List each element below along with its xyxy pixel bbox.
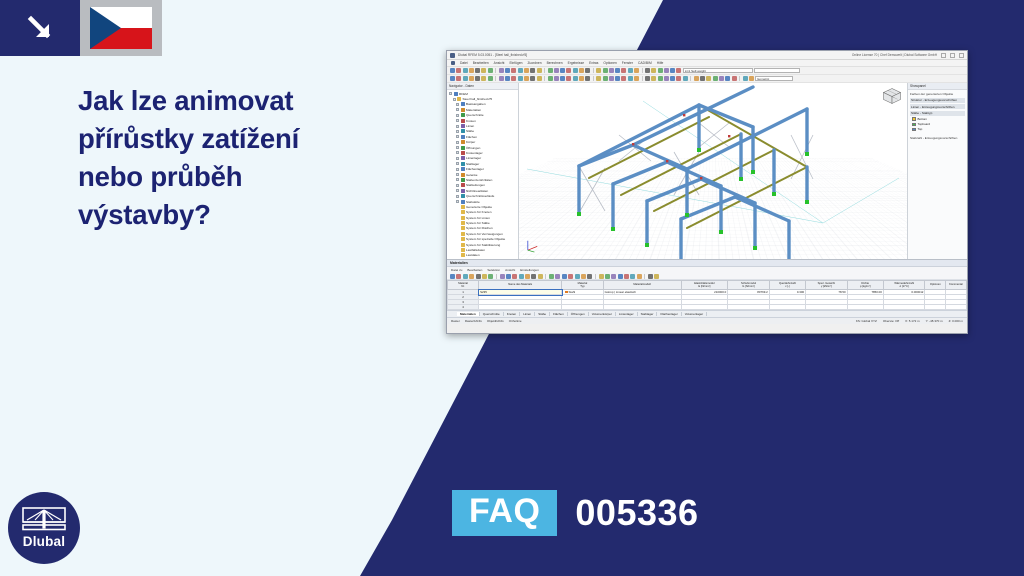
tree-toggle-icon[interactable]: - [456, 178, 459, 181]
toolbar-button-29[interactable] [651, 68, 656, 73]
tree-loadcase-lf1-self-weight[interactable]: LF1 - Self-weight [449, 258, 518, 259]
toolbar-button-2[interactable] [463, 274, 468, 279]
tree-toggle-icon[interactable]: - [456, 173, 459, 176]
toolbar-combo-0[interactable]: LC1 Self-weight [683, 68, 753, 73]
toolbar-separator [642, 68, 643, 73]
license-text: Online License 70 | Chef Demowelt | Dlub… [852, 53, 937, 57]
tree-toggle-icon[interactable]: - [456, 108, 459, 111]
headline-line-3: nebo průběh [78, 158, 408, 196]
toolbar-button-11[interactable] [524, 68, 529, 73]
tree-toggle-icon[interactable]: - [456, 130, 459, 133]
column-header-line-0: Materialmodell [605, 283, 680, 286]
toolbar-button-20[interactable] [585, 76, 590, 81]
material-type-swatch [565, 291, 567, 293]
table-menu-bearbeiten[interactable]: Bearbeiten [467, 268, 482, 272]
toolbar-button-14[interactable] [549, 274, 554, 279]
table-title: Materialien [450, 261, 468, 265]
toolbar-button-3[interactable] [469, 68, 474, 73]
toolbar-button-8[interactable] [506, 274, 511, 279]
close-button[interactable] [959, 53, 964, 58]
tree-node-label: Generierte Objekte [466, 205, 492, 209]
toolbar-button-21[interactable] [596, 68, 601, 73]
toolbar-button-23[interactable] [611, 274, 616, 279]
toolbar-button-16[interactable] [560, 76, 565, 81]
column-header-line-1: ρ [kg/m³] [849, 285, 882, 288]
tree-node-label: System für Stäbe [466, 221, 490, 225]
tree-node-icon [461, 189, 465, 193]
tree-toggle-icon[interactable]: - [456, 114, 459, 117]
menu-item-bearbeiten[interactable]: Bearbeiten [473, 61, 489, 65]
tree-node-label: Flächen [466, 135, 477, 139]
navigator-panel: Navigator - Daten -RFEM-Steel hall_finis… [447, 83, 519, 259]
show-panel-section-b: Linien - Erzeugungsvorschriften [910, 104, 965, 109]
toolbar-button-30[interactable] [658, 68, 663, 73]
status-mode-objektfang[interactable]: ObjektFANG [487, 319, 504, 323]
table-menu-selektion[interactable]: Selektion [487, 268, 500, 272]
show-panel-header: Showpanel [908, 83, 967, 90]
materials-table[interactable]: MaterialNr.Name des MaterialsMaterialTyp… [447, 280, 967, 310]
toolbar-button-29[interactable] [654, 274, 659, 279]
tree-node-label: Lastfallsdaten [466, 248, 485, 252]
toolbar-button-8[interactable] [505, 76, 510, 81]
status-mode-ortholinie[interactable]: Ortholinie [509, 319, 522, 323]
toolbar-button-2[interactable] [463, 68, 468, 73]
toolbar-button-37[interactable] [706, 76, 711, 81]
toolbar-separator [690, 76, 691, 81]
table-cell-model[interactable] [603, 305, 681, 310]
minimize-button[interactable] [941, 53, 946, 58]
tree-node-icon [461, 113, 465, 117]
tree-node-label: Linien [466, 124, 474, 128]
toolbar-button-12[interactable] [530, 68, 535, 73]
tree-node-label: Körper [466, 140, 475, 144]
toolbar-button-18[interactable] [573, 76, 578, 81]
tree-toggle-icon[interactable]: - [456, 146, 459, 149]
toolbar-button-27[interactable] [634, 68, 639, 73]
menu-item-einfuegen[interactable]: Einfügen [509, 61, 522, 65]
toolbar-separator [544, 76, 545, 81]
toolbar-button-7[interactable] [500, 274, 505, 279]
sheet-tab-querschnitte[interactable]: Querschnitte [480, 312, 504, 316]
toolbar-button-36[interactable] [700, 76, 705, 81]
toolbar-button-10[interactable] [518, 76, 523, 81]
toolbar-button-33[interactable] [676, 68, 681, 73]
toolbar-button-38[interactable] [713, 76, 718, 81]
toolbar-button-15[interactable] [555, 274, 560, 279]
toolbar-separator [644, 274, 645, 279]
loadcase-combo-label: LC1 Self-weight [685, 69, 706, 73]
toolbar-button-19[interactable] [579, 76, 584, 81]
toolbar-button-19[interactable] [579, 68, 584, 73]
sheet-tab-strip: MaterialienQuerschnitteKnotenLinienStäbe… [447, 310, 967, 317]
legend-swatch-topboard [912, 123, 916, 127]
table-cell-e[interactable] [681, 305, 728, 310]
toolbar-button-27[interactable] [637, 274, 642, 279]
sheet-tab-fl-chenlager[interactable]: Flächenlager [657, 312, 681, 316]
tree-node-icon [461, 173, 465, 177]
toolbar-button-30[interactable] [658, 76, 663, 81]
toolbar-button-24[interactable] [615, 76, 620, 81]
show-panel: Showpanel Farben der generierten Objekte… [907, 83, 967, 259]
sheet-tab-fl-chen[interactable]: Flächen [550, 312, 568, 316]
toolbar-button-4[interactable] [476, 274, 481, 279]
toolbar-button-22[interactable] [603, 68, 608, 73]
toolbar-button-26[interactable] [628, 76, 633, 81]
toolbar-button-0[interactable] [450, 68, 455, 73]
toolbar-button-3[interactable] [469, 76, 474, 81]
column-header-line-1: G [N/mm²] [729, 285, 768, 288]
toolbar-combo-1[interactable] [754, 68, 800, 73]
sheet-tab-volumenk-rper[interactable]: Volumenkörper [589, 312, 616, 316]
page-title: Jak lze animovat přírůstky zatížení nebo… [78, 82, 408, 234]
table-cell-alpha[interactable] [883, 305, 925, 310]
toolbar-button-6[interactable] [488, 76, 493, 81]
tree-toggle-icon[interactable]: - [456, 195, 459, 198]
toolbar-button-5[interactable] [482, 274, 487, 279]
toolbar-button-43[interactable] [749, 76, 754, 81]
sheet-tab-knoten[interactable]: Knoten [504, 312, 521, 316]
toolbar-button-23[interactable] [609, 76, 614, 81]
toolbar-button-24[interactable] [618, 274, 623, 279]
menu-app-icon [451, 61, 455, 65]
tree-node-icon [457, 97, 461, 101]
toolbar-button-28[interactable] [645, 68, 650, 73]
czech-flag-icon [80, 0, 162, 56]
table-column-header-6[interactable]: Querdehnzahlν [-] [769, 281, 805, 290]
tree-node-icon [461, 119, 465, 123]
toolbar-separator [545, 274, 546, 279]
toolbar-button-41[interactable] [732, 76, 737, 81]
table-menu-einstellungen[interactable]: Einstellungen [520, 268, 539, 272]
tree-toggle-icon[interactable]: - [456, 162, 459, 165]
menu-item-berechnen[interactable]: Berechnen [547, 61, 563, 65]
tree-toggle-icon[interactable]: - [456, 184, 459, 187]
tree-node-label: System für Flächen [466, 226, 493, 230]
toolbar-button-6[interactable] [488, 274, 493, 279]
toolbar-separator [544, 68, 545, 73]
status-x: X: 5.172 m [905, 319, 920, 323]
show-panel-body: Farben der generierten Objekte Struktur … [908, 90, 967, 144]
table-menu-ansicht[interactable]: Ansicht [505, 268, 515, 272]
toolbar-button-10[interactable] [519, 274, 524, 279]
column-header-line-1: α [1/°C] [885, 285, 924, 288]
toolbar-combo-0[interactable]: Isometric [755, 76, 793, 81]
navigator-header: Navigator - Daten [447, 83, 518, 90]
faq-row: FAQ 005336 [452, 490, 699, 536]
toolbar-button-1[interactable] [456, 68, 461, 73]
legend-label-topboard: Topboard [918, 122, 931, 126]
toolbar-button-27[interactable] [634, 76, 639, 81]
toolbar-button-15[interactable] [554, 68, 559, 73]
menu-bar: Datei Bearbeiten Ansicht Einfügen Zuordn… [447, 60, 967, 67]
toolbar-button-14[interactable] [548, 68, 553, 73]
tree-node-label: Gelenke [466, 173, 478, 177]
toolbar-button-10[interactable] [518, 68, 523, 73]
steel-hall-model[interactable] [519, 83, 907, 259]
status-mode-raster[interactable]: Raster [451, 319, 460, 323]
legend-item-top[interactable]: Top [912, 127, 965, 131]
toolbar-button-34[interactable] [683, 76, 688, 81]
toolbar-button-12[interactable] [530, 76, 535, 81]
toolbar-button-22[interactable] [605, 274, 610, 279]
toolbar-button-28[interactable] [645, 76, 650, 81]
menu-item-cadbim[interactable]: CAD/BIM [638, 61, 652, 65]
toolbar-button-26[interactable] [628, 68, 633, 73]
view-cube-icon[interactable] [882, 87, 902, 105]
toolbar-button-1[interactable] [456, 76, 461, 81]
toolbar-button-7[interactable] [499, 68, 504, 73]
menu-item-ansicht[interactable]: Ansicht [494, 61, 505, 65]
toolbar-separator [595, 274, 596, 279]
table-pane: Materialien Datei zu Bearbeiten Selektio… [447, 259, 967, 324]
toolbar-separator [642, 76, 643, 81]
toolbar-button-13[interactable] [537, 76, 542, 81]
table-cell-g[interactable] [728, 305, 770, 310]
toolbar-button-4[interactable] [475, 76, 480, 81]
toolbar-button-13[interactable] [537, 68, 542, 73]
toolbar-button-20[interactable] [585, 68, 590, 73]
toolbar-button-5[interactable] [481, 68, 486, 73]
toolbar-button-25[interactable] [624, 274, 629, 279]
maximize-button[interactable] [950, 53, 955, 58]
table-body: 1S235StahlIsotrop | Linear elastisch2100… [448, 290, 967, 310]
toolbar-button-31[interactable] [664, 68, 669, 73]
tree-node-label: Stabteilungen [466, 183, 485, 187]
menu-item-hilfe[interactable]: Hilfe [657, 61, 664, 65]
tree-node-icon [461, 151, 465, 155]
status-mode-rasterfang[interactable]: RasterFANG [465, 319, 482, 323]
menu-item-extras[interactable]: Extras [589, 61, 598, 65]
toolbar-button-29[interactable] [651, 76, 656, 81]
tree-toggle-icon[interactable]: - [449, 92, 452, 95]
table-cell-type[interactable] [562, 305, 604, 310]
status-right: KS: Global XYZ Oberste: Off X: 5.172 m Y… [856, 319, 963, 323]
toolbar-button-12[interactable] [531, 274, 536, 279]
toolbar-button-3[interactable] [469, 274, 474, 279]
tree-toggle-icon[interactable]: - [456, 141, 459, 144]
toolbar-button-15[interactable] [554, 76, 559, 81]
tree-node-label: Steel hall_finished.rf5 [463, 97, 493, 101]
menu-item-zuordnen[interactable]: Zuordnen [527, 61, 541, 65]
toolbar-button-6[interactable] [488, 68, 493, 73]
toolbar-button-2[interactable] [463, 76, 468, 81]
headline-line-2: přírůstky zatížení [78, 120, 408, 158]
tree-node-icon [461, 108, 465, 112]
tree-node-label: Querschnittsverläufe [466, 194, 494, 198]
table-cell-nu[interactable] [769, 305, 805, 310]
window-title: Dlubal RFEM 5.03.0051 - [Steel hall_fini… [458, 53, 527, 57]
toolbar-separator [496, 274, 497, 279]
toolbar-separator [495, 68, 496, 73]
toolbar-button-20[interactable] [587, 274, 592, 279]
table-cell-rho[interactable] [847, 305, 883, 310]
toolbar-separator [593, 68, 594, 73]
menu-item-datei[interactable]: Datei [460, 61, 468, 65]
navigator-title: Navigator - Daten [449, 84, 474, 88]
toolbar-button-17[interactable] [566, 68, 571, 73]
tree-node-icon [461, 200, 465, 204]
toolbar-button-17[interactable] [566, 76, 571, 81]
tree-node-icon [461, 232, 465, 236]
main-toolbar: LC1 Self-weight [447, 67, 967, 75]
tree-toggle-icon[interactable]: - [456, 125, 459, 128]
table-column-header-8[interactable]: Dichteρ [kg/m³] [847, 281, 883, 290]
tree-node-icon [461, 129, 465, 133]
tree-toggle-icon[interactable]: - [456, 135, 459, 138]
sheet-tab-st-be[interactable]: Stäbe [535, 312, 550, 316]
tree-node-label: Stabexzentrizitäten [466, 178, 492, 182]
toolbar-button-23[interactable] [609, 68, 614, 73]
tree-node-label: Knotenlager [466, 151, 483, 155]
table-cell-no[interactable]: 4 [448, 305, 479, 310]
toolbar-button-26[interactable] [630, 274, 635, 279]
toolbar-button-33[interactable] [676, 76, 681, 81]
column-header-line-0: Name des Materials [480, 283, 560, 286]
tree-node-icon [461, 135, 465, 139]
sheet-tab-stablager[interactable]: Stablager [638, 312, 658, 316]
table-column-header-2[interactable]: MaterialTyp [562, 281, 604, 290]
table-column-header-5[interactable]: SchubmodulG [N/mm²] [728, 281, 770, 290]
tree-toggle-icon[interactable]: - [456, 119, 459, 122]
tree-node-icon [461, 140, 465, 144]
toolbar-button-9[interactable] [511, 76, 516, 81]
toolbar-button-19[interactable] [581, 274, 586, 279]
status-y: Y: -48.370 m [926, 319, 943, 323]
tree-toggle-icon[interactable]: - [456, 189, 459, 192]
toolbar-button-8[interactable] [505, 68, 510, 73]
tree-node-label: System für Verzweigungen [466, 232, 503, 236]
toolbar-button-18[interactable] [575, 274, 580, 279]
tree-toggle-icon[interactable]: - [456, 151, 459, 154]
toolbar-button-39[interactable] [719, 76, 724, 81]
table-row[interactable]: 4 [448, 305, 967, 310]
legend-swatch-bottom [912, 117, 916, 121]
table-cell-comment[interactable] [946, 305, 967, 310]
sheet-tab-linien[interactable]: Linien [520, 312, 535, 316]
tree-node-icon [461, 243, 465, 247]
legend-item-topboard[interactable]: Topboard [912, 122, 965, 126]
legend-label-top: Top [918, 127, 923, 131]
tree-node-icon [461, 226, 465, 230]
sheet-tab-materialien[interactable]: Materialien [457, 312, 480, 316]
sheet-tab--ffnungen[interactable]: Öffnungen [568, 312, 589, 316]
menu-item-fenster[interactable]: Fenster [622, 61, 633, 65]
column-header-line-1: Typ [563, 285, 602, 288]
toolbar-button-9[interactable] [512, 274, 517, 279]
table-column-header-11[interactable]: Kommentar [946, 281, 967, 290]
toolbar-button-22[interactable] [603, 76, 608, 81]
legend-label-bottom: Bottom [918, 117, 928, 121]
model-viewport[interactable] [519, 83, 907, 259]
toolbar-button-40[interactable] [725, 76, 730, 81]
tree-toggle-icon[interactable]: - [456, 157, 459, 160]
rfem-application-window: Dlubal RFEM 5.03.0051 - [Steel hall_fini… [446, 50, 968, 334]
table-column-header-1[interactable]: Name des Materials [479, 281, 562, 290]
status-coordinate-system: KS: Global XYZ [856, 319, 877, 323]
status-cursor: Oberste: Off [883, 319, 899, 323]
toolbar-button-42[interactable] [743, 76, 748, 81]
legend-item-bottom[interactable]: Bottom [912, 117, 965, 121]
toolbar-button-24[interactable] [615, 68, 620, 73]
toolbar-button-0[interactable] [450, 274, 455, 279]
toolbar-button-31[interactable] [664, 76, 669, 81]
tree-node-icon [461, 221, 465, 225]
toolbar-button-0[interactable] [450, 76, 455, 81]
table-cell-gamma[interactable] [806, 305, 848, 310]
arrow-down-right-icon [0, 0, 80, 56]
toolbar-button-14[interactable] [548, 76, 553, 81]
show-panel-footer: Stabzahl - Erzeugungsvorschriften [910, 136, 965, 140]
truss-icon [22, 507, 66, 532]
table-column-header-0[interactable]: MaterialNr. [448, 281, 479, 290]
toolbar-button-28[interactable] [648, 274, 653, 279]
tree-node-icon [461, 178, 465, 182]
toolbar-separator [495, 76, 496, 81]
toolbar-button-7[interactable] [499, 76, 504, 81]
toolbar-button-25[interactable] [621, 76, 626, 81]
table-column-header-7[interactable]: Spez. Gewichtγ [kN/m³] [806, 281, 848, 290]
toolbar-button-25[interactable] [621, 68, 626, 73]
tree-node-label: System für Linien [466, 216, 490, 220]
tree-toggle-icon[interactable]: - [456, 200, 459, 203]
menu-item-ergebnisse[interactable]: Ergebnisse [568, 61, 585, 65]
toolbar-button-32[interactable] [670, 68, 675, 73]
toolbar-button-4[interactable] [475, 68, 480, 73]
table-cell-name[interactable] [479, 305, 562, 310]
tree-node-label: Knoten [466, 119, 476, 123]
toolbar-button-35[interactable] [694, 76, 699, 81]
column-header-line-0: Kommentar [947, 283, 965, 286]
toolbar-button-21[interactable] [599, 274, 604, 279]
toolbar-button-13[interactable] [538, 274, 543, 279]
toolbar-button-5[interactable] [481, 76, 486, 81]
toolbar-button-9[interactable] [511, 68, 516, 73]
table-column-header-4[interactable]: ElastizitätsmodulE [N/mm²] [681, 281, 728, 290]
toolbar-button-16[interactable] [562, 274, 567, 279]
toolbar-button-21[interactable] [596, 76, 601, 81]
toolbar-button-32[interactable] [670, 76, 675, 81]
status-bar: Raster RasterFANG ObjektFANG Ortholinie … [447, 317, 967, 324]
tree-node-label: Stablager [466, 162, 479, 166]
sheet-tab-volumenlager[interactable]: Volumenlager [682, 312, 707, 316]
toolbar-button-17[interactable] [568, 274, 573, 279]
faq-number: 005336 [575, 492, 698, 534]
tree-toggle-icon[interactable]: - [456, 168, 459, 171]
tree-toggle-icon[interactable]: - [456, 103, 459, 106]
show-panel-title: Showpanel [910, 84, 926, 88]
tree-node-label: Flächenlager [466, 167, 484, 171]
toolbar-button-16[interactable] [560, 68, 565, 73]
tree-node-label: Öffnungen [466, 146, 480, 150]
workspace: Navigator - Daten -RFEM-Steel hall_finis… [447, 83, 967, 259]
toolbar-button-18[interactable] [573, 68, 578, 73]
toolbar-button-1[interactable] [456, 274, 461, 279]
tree-toggle-icon[interactable]: - [453, 98, 456, 101]
sheet-tab-linienlager[interactable]: Linienlager [616, 312, 638, 316]
menu-item-optionen[interactable]: Optionen [603, 61, 616, 65]
toolbar-button-11[interactable] [524, 76, 529, 81]
table-column-header-10[interactable]: Optionen [925, 281, 946, 290]
table-menu-datei[interactable]: Datei zu [451, 268, 462, 272]
table-column-header-3[interactable]: Materialmodell [603, 281, 681, 290]
tree-node-icon [461, 205, 465, 209]
table-column-header-9[interactable]: Wärmedehnzahlα [1/°C] [883, 281, 925, 290]
table-toolbar [447, 273, 967, 280]
toolbar-button-11[interactable] [525, 274, 530, 279]
table-cell-options[interactable] [925, 305, 946, 310]
tree-node-icon [461, 237, 465, 241]
column-header-line-1: ν [-] [771, 285, 804, 288]
